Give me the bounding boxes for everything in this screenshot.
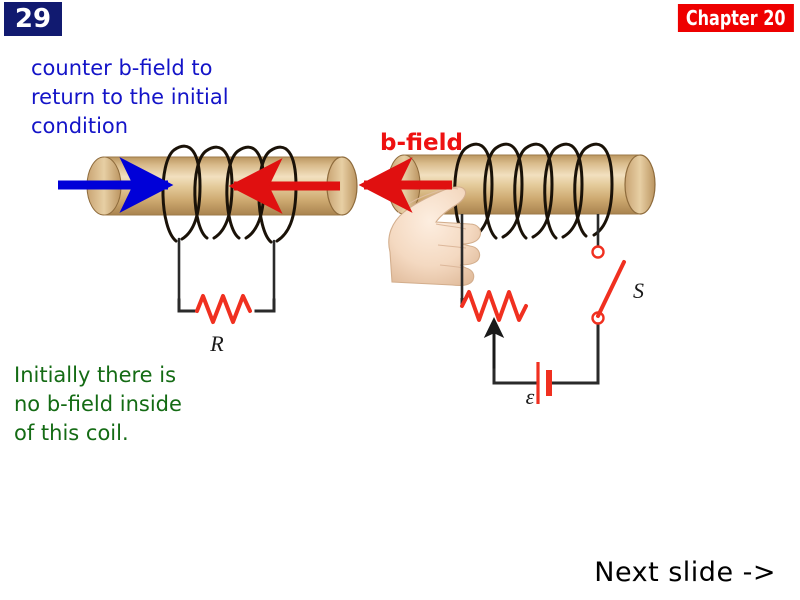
right-coil-wire [455, 144, 612, 238]
left-coil-wire [163, 146, 296, 242]
battery-symbol [538, 362, 549, 404]
bfield-label: b-field [380, 130, 463, 156]
right-hand-grip [389, 187, 481, 300]
left-circuit: R [179, 296, 274, 356]
page-number-badge: 29 [4, 2, 62, 36]
rheostat-symbol [462, 292, 526, 320]
left-solenoid-rod [87, 157, 357, 215]
emf-label: ε [526, 384, 535, 409]
switch-symbol[interactable] [593, 247, 625, 324]
slide-canvas: 29 Chapter 20 counter b-field to return … [0, 0, 800, 600]
next-slide-link[interactable]: Next slide -> [594, 557, 776, 588]
left-coil-leads [179, 239, 274, 300]
switch-terminal-top[interactable] [593, 247, 604, 258]
resistor-symbol [197, 296, 250, 322]
chapter-badge: Chapter 20 [678, 4, 794, 32]
switch-terminal-bottom[interactable] [593, 313, 604, 324]
counter-bfield-note: counter b-field to return to the initial… [31, 54, 229, 141]
right-circuit: ε S [462, 247, 644, 410]
right-solenoid-rod [388, 155, 655, 214]
resistor-label: R [209, 331, 224, 356]
initial-condition-note: Initially there is no b-field inside of … [14, 361, 182, 448]
switch-label: S [633, 278, 644, 303]
switch-lever[interactable] [598, 262, 624, 316]
